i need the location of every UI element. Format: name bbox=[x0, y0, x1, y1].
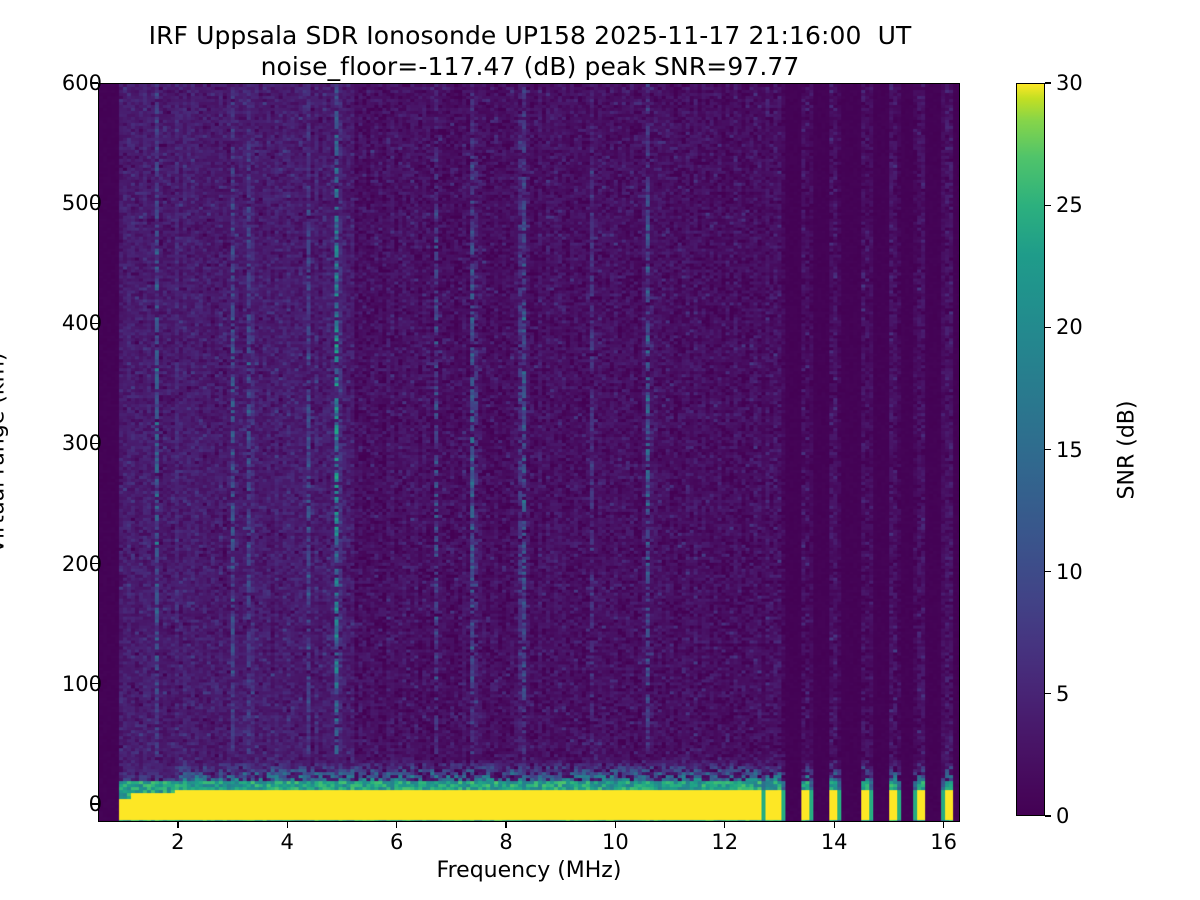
x-axis-label: Frequency (MHz) bbox=[437, 858, 622, 883]
y-tick-label: 600 bbox=[62, 71, 102, 95]
title-line-2: noise_floor=-117.47 (dB) peak SNR=97.77 bbox=[0, 51, 1060, 82]
figure-title: IRF Uppsala SDR Ionosonde UP158 2025-11-… bbox=[0, 20, 1060, 82]
x-tick-mark bbox=[615, 822, 616, 828]
ionogram-heatmap-canvas bbox=[99, 84, 959, 821]
x-tick-label: 16 bbox=[930, 830, 957, 854]
colorbar-tick-label: 10 bbox=[1056, 560, 1083, 584]
colorbar-tick-mark bbox=[1045, 693, 1051, 694]
x-tick-label: 14 bbox=[821, 830, 848, 854]
colorbar-tick-mark bbox=[1045, 327, 1051, 328]
colorbar-tick-label: 25 bbox=[1056, 193, 1083, 217]
colorbar-gradient bbox=[1017, 84, 1044, 815]
x-tick-mark bbox=[943, 822, 944, 828]
colorbar-tick-mark bbox=[1045, 571, 1051, 572]
y-tick-label: 100 bbox=[62, 672, 102, 696]
y-tick-label: 0 bbox=[89, 792, 102, 816]
x-tick-mark bbox=[505, 822, 506, 828]
y-tick-label: 400 bbox=[62, 311, 102, 335]
colorbar-tick-label: 30 bbox=[1056, 71, 1083, 95]
x-tick-mark bbox=[287, 822, 288, 828]
colorbar-tick-label: 20 bbox=[1056, 315, 1083, 339]
ionogram-figure: IRF Uppsala SDR Ionosonde UP158 2025-11-… bbox=[0, 0, 1200, 900]
colorbar-tick-mark bbox=[1045, 449, 1051, 450]
title-line-1: IRF Uppsala SDR Ionosonde UP158 2025-11-… bbox=[0, 20, 1060, 51]
colorbar-tick-mark bbox=[1045, 82, 1051, 83]
x-tick-mark bbox=[396, 822, 397, 828]
x-tick-mark bbox=[724, 822, 725, 828]
colorbar-tick-mark bbox=[1045, 815, 1051, 816]
colorbar-tick-mark bbox=[1045, 205, 1051, 206]
colorbar-tick-label: 5 bbox=[1056, 682, 1069, 706]
y-axis-label: Virtual range (km) bbox=[0, 352, 10, 553]
colorbar-label: SNR (dB) bbox=[1115, 401, 1140, 500]
colorbar-tick-label: 15 bbox=[1056, 438, 1083, 462]
x-tick-label: 10 bbox=[602, 830, 629, 854]
colorbar-tick-label: 0 bbox=[1056, 804, 1069, 828]
x-tick-label: 12 bbox=[711, 830, 738, 854]
heatmap-plot-area bbox=[98, 83, 960, 822]
y-tick-label: 200 bbox=[62, 552, 102, 576]
x-tick-label: 2 bbox=[171, 830, 184, 854]
x-tick-mark bbox=[834, 822, 835, 828]
y-tick-label: 500 bbox=[62, 191, 102, 215]
x-tick-label: 8 bbox=[499, 830, 512, 854]
x-tick-label: 4 bbox=[281, 830, 294, 854]
colorbar bbox=[1016, 83, 1045, 816]
x-tick-label: 6 bbox=[390, 830, 403, 854]
x-tick-mark bbox=[177, 822, 178, 828]
y-tick-label: 300 bbox=[62, 431, 102, 455]
